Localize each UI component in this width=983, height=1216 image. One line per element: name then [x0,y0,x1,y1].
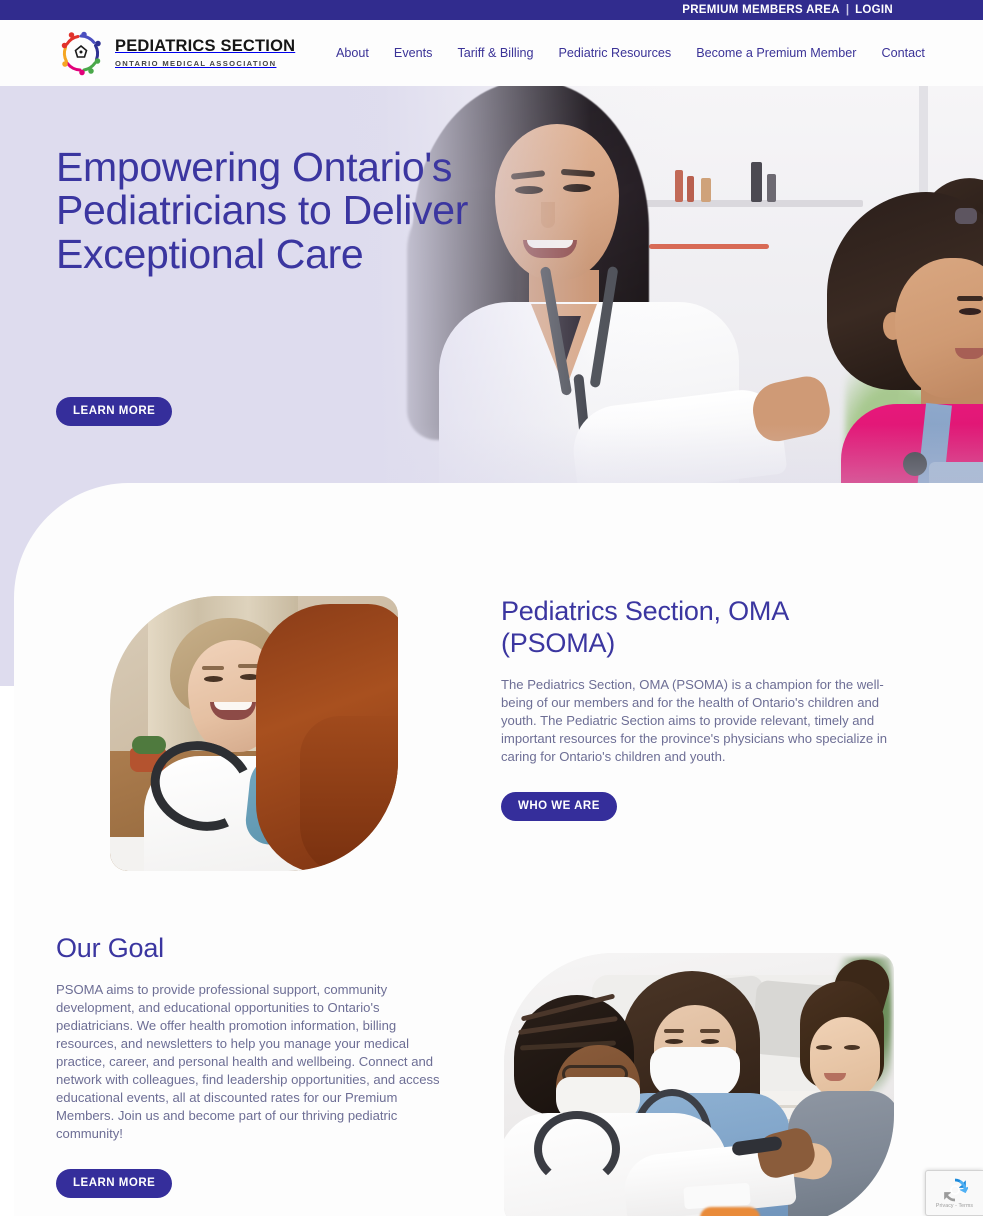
nav-item-events[interactable]: Events [394,46,433,60]
our-goal-heading: Our Goal [56,933,456,965]
our-goal-body: PSOMA aims to provide professional suppo… [56,981,456,1144]
our-goal-image [504,953,894,1216]
recaptcha-privacy-terms-text: Privacy - Terms [936,1204,973,1209]
premium-members-area-link[interactable]: PREMIUM MEMBERS AREA [682,4,840,16]
psoma-intro-image [110,596,398,871]
page-root: PREMIUM MEMBERS AREA | LOGIN [0,0,983,1216]
nav-item-tariff-billing[interactable]: Tariff & Billing [457,46,533,60]
logo-text: PEDIATRICS SECTION ONTARIO MEDICAL ASSOC… [115,38,295,67]
recaptcha-badge[interactable]: Privacy - Terms [925,1170,983,1216]
pediatrics-circle-people-logo-icon [56,28,106,78]
nav-item-pediatric-resources[interactable]: Pediatric Resources [559,46,672,60]
who-we-are-button[interactable]: WHO WE ARE [501,792,617,821]
our-goal-text: Our Goal PSOMA aims to provide professio… [56,933,456,1198]
hero-copy: Empowering Ontario's Pediatricians to De… [56,146,476,276]
nav-item-contact[interactable]: Contact [881,46,924,60]
nav-item-about[interactable]: About [336,46,369,60]
psoma-intro-body: The Pediatrics Section, OMA (PSOMA) is a… [501,676,901,766]
utility-bar: PREMIUM MEMBERS AREA | LOGIN [0,0,983,20]
hero-title: Empowering Ontario's Pediatricians to De… [56,146,476,276]
main-navigation: About Events Tariff & Billing Pediatric … [336,20,925,86]
psoma-intro-cta-row: WHO WE ARE [501,792,901,821]
site-logo[interactable]: PEDIATRICS SECTION ONTARIO MEDICAL ASSOC… [56,28,295,78]
nav-item-become-premium-member[interactable]: Become a Premium Member [696,46,856,60]
logo-title: PEDIATRICS SECTION [115,38,295,55]
our-goal-learn-more-button[interactable]: LEARN MORE [56,1169,172,1198]
hero-child-figure [803,190,983,484]
psoma-intro-heading: Pediatrics Section, OMA (PSOMA) [501,596,901,660]
site-header: PEDIATRICS SECTION ONTARIO MEDICAL ASSOC… [0,20,983,86]
utility-separator: | [846,4,849,16]
logo-subtitle: ONTARIO MEDICAL ASSOCIATION [115,59,295,68]
recaptcha-icon [942,1177,968,1203]
our-goal-cta-row: LEARN MORE [56,1169,456,1198]
hero-learn-more-button[interactable]: LEARN MORE [56,397,172,426]
login-link[interactable]: LOGIN [855,4,893,16]
psoma-intro-text: Pediatrics Section, OMA (PSOMA) The Pedi… [501,596,901,821]
